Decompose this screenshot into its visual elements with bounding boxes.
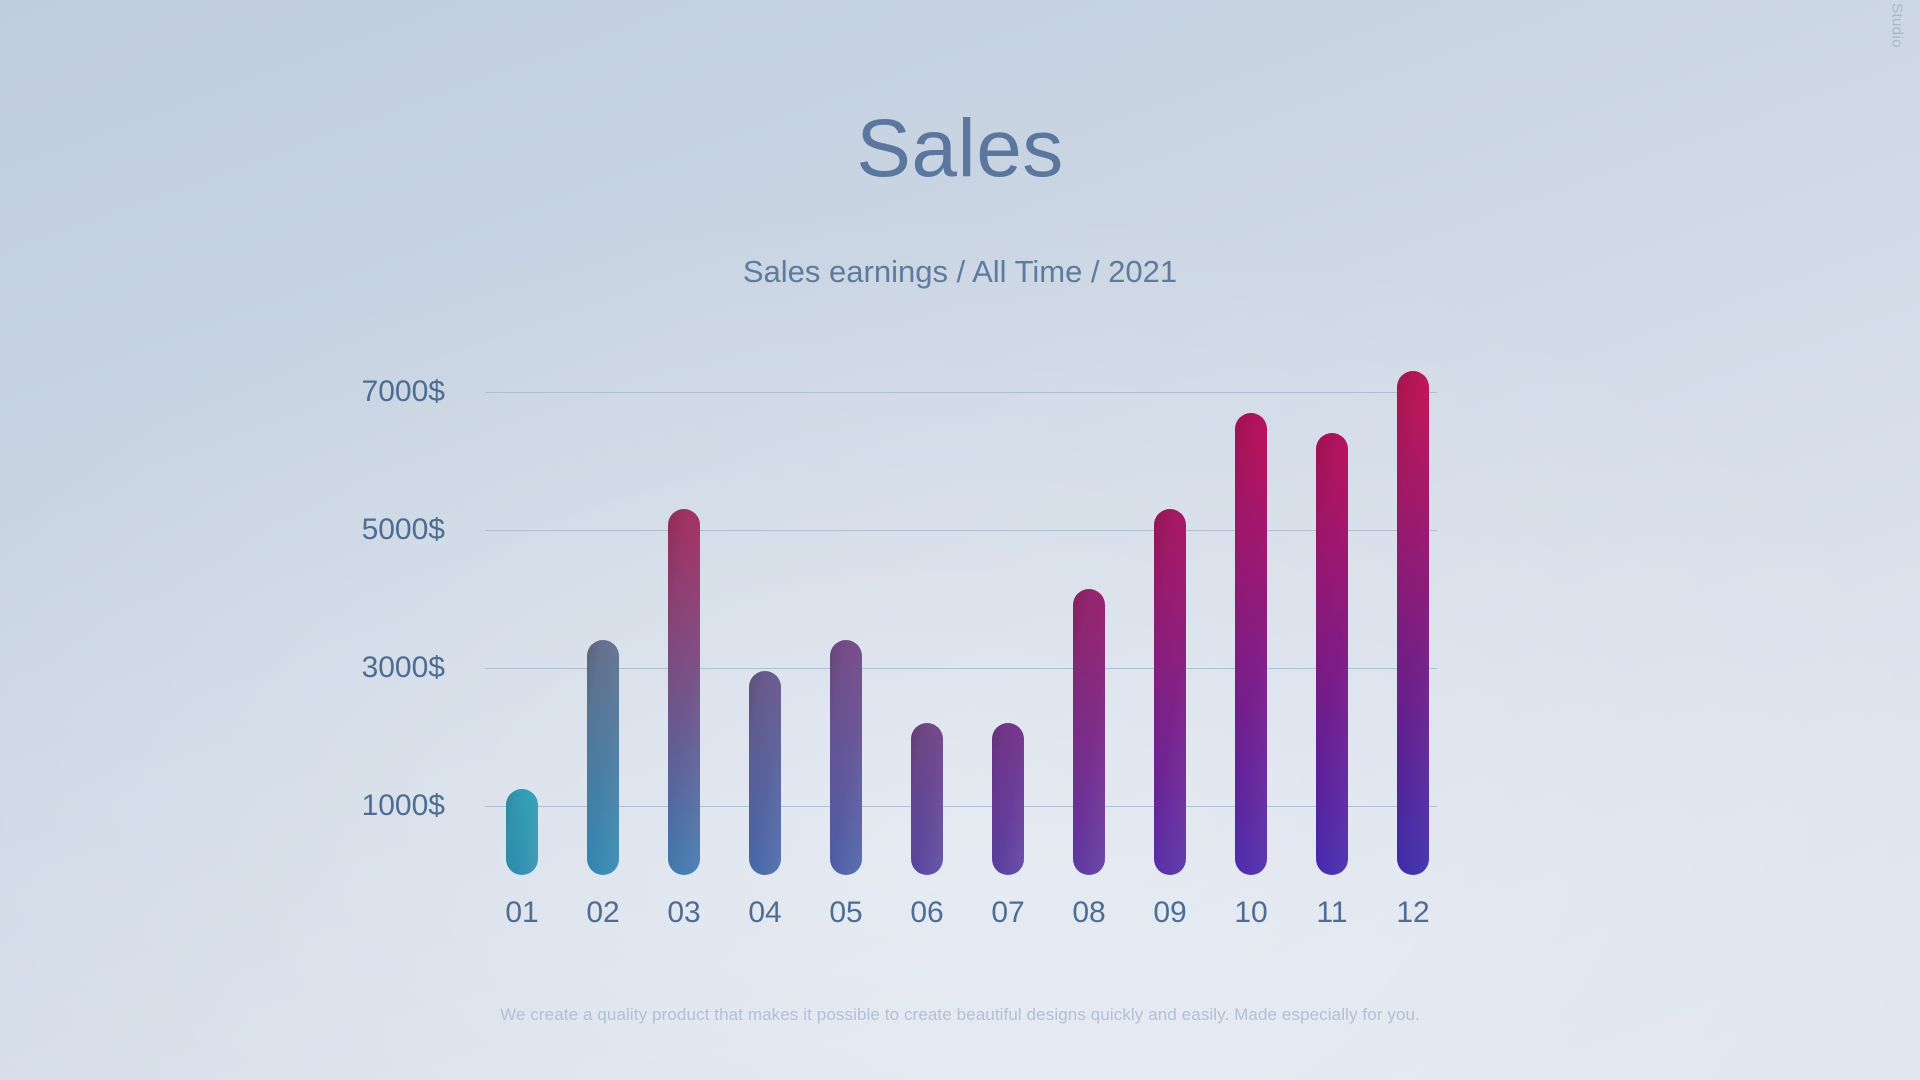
bar-04[interactable] xyxy=(749,671,781,875)
x-axis-tick-label-08: 08 xyxy=(1049,896,1129,930)
bar-06[interactable] xyxy=(911,723,943,875)
x-axis-tick-label-12: 12 xyxy=(1373,896,1453,930)
bar-11[interactable] xyxy=(1316,433,1348,875)
bar-shading xyxy=(749,671,781,875)
bar-12[interactable] xyxy=(1397,371,1429,875)
bar-shading xyxy=(830,640,862,875)
footer-note: We create a quality product that makes i… xyxy=(0,1005,1920,1025)
bar-08[interactable] xyxy=(1073,589,1105,875)
x-axis-tick-label-11: 11 xyxy=(1292,896,1372,930)
bar-shading xyxy=(1235,413,1267,875)
chart-stage: Sales Sales earnings / All Time / 2021 1… xyxy=(0,0,1920,1080)
bar-05[interactable] xyxy=(830,640,862,875)
watermark-label: Motion Wizard Studio xyxy=(1889,0,1906,48)
bar-shading xyxy=(1154,509,1186,875)
x-axis-tick-label-06: 06 xyxy=(887,896,967,930)
bar-shading xyxy=(1073,589,1105,875)
bar-07[interactable] xyxy=(992,723,1024,875)
bar-shading xyxy=(992,723,1024,875)
bar-01[interactable] xyxy=(506,789,538,875)
bar-shading xyxy=(587,640,619,875)
x-axis-tick-label-05: 05 xyxy=(806,896,886,930)
bar-shading xyxy=(668,509,700,875)
bar-09[interactable] xyxy=(1154,509,1186,875)
plot-area: 1000$3000$5000$7000$ 0102030405060708091… xyxy=(0,0,1920,1080)
x-axis-tick-label-04: 04 xyxy=(725,896,805,930)
x-axis-tick-label-07: 07 xyxy=(968,896,1048,930)
bar-02[interactable] xyxy=(587,640,619,875)
x-axis-tick-label-02: 02 xyxy=(563,896,643,930)
bar-03[interactable] xyxy=(668,509,700,875)
x-axis-tick-label-03: 03 xyxy=(644,896,724,930)
bar-shading xyxy=(506,789,538,875)
x-axis-tick-label-09: 09 xyxy=(1130,896,1210,930)
bar-shading xyxy=(1316,433,1348,875)
x-axis-tick-label-01: 01 xyxy=(482,896,562,930)
bar-shading xyxy=(1397,371,1429,875)
x-axis-tick-label-10: 10 xyxy=(1211,896,1291,930)
bar-10[interactable] xyxy=(1235,413,1267,875)
bar-shading xyxy=(911,723,943,875)
